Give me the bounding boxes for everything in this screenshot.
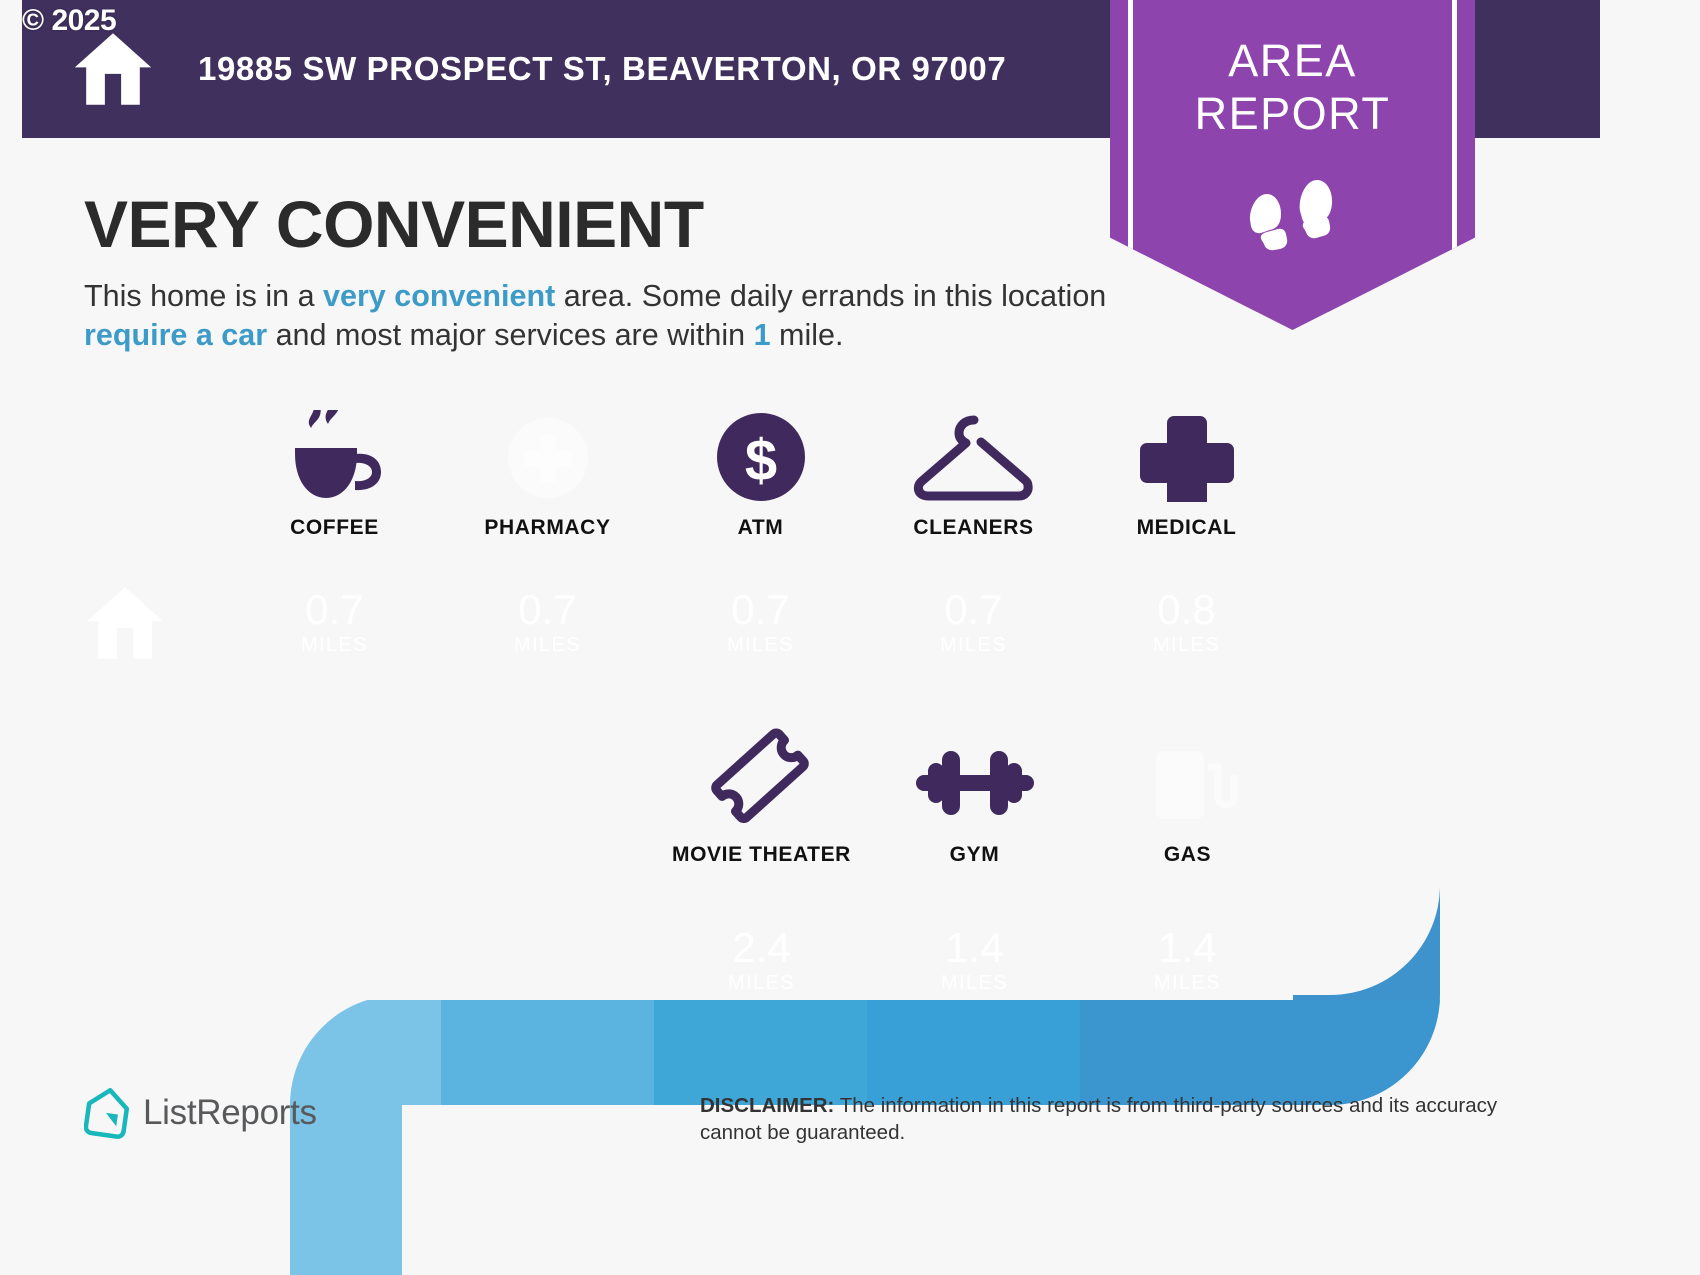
amenity-coffee: COFFEE xyxy=(228,410,441,540)
distance-value: 0.7 xyxy=(944,588,1002,632)
dumbbell-icon xyxy=(912,737,1038,829)
amenity-label: CLEANERS xyxy=(913,516,1033,540)
amenity-atm: $ ATM xyxy=(654,410,867,540)
distance-unit: MILES xyxy=(1153,634,1220,657)
distance-value: 0.7 xyxy=(731,588,789,632)
home-marker-cell xyxy=(22,565,228,680)
disclaimer: DISCLAIMER: The information in this repo… xyxy=(700,1092,1500,1146)
amenity-label: GAS xyxy=(1164,843,1211,867)
distance-cell-pharmacy: 0.7 MILES xyxy=(441,565,654,680)
distance-unit: MILES xyxy=(301,634,368,657)
logo-text: ListReports xyxy=(143,1093,317,1133)
listreports-pin-icon xyxy=(84,1087,130,1139)
distance-cell-gas: 1.4 MILES xyxy=(1081,903,1294,1018)
distance-cell-gym: 1.4 MILES xyxy=(868,903,1081,1018)
disclaimer-label: DISCLAIMER: xyxy=(700,1094,834,1117)
svg-text:$: $ xyxy=(744,428,776,493)
distance-value-row-1: 0.7 MILES 0.7 MILES 0.7 MILES 0.7 MILES … xyxy=(228,565,1293,680)
distance-value: 0.7 xyxy=(305,588,363,632)
distance-cell-medical: 0.8 MILES xyxy=(1080,565,1293,680)
footprints-icon xyxy=(1241,172,1345,258)
distance-value: 1.4 xyxy=(945,926,1003,970)
distance-unit: MILES xyxy=(1154,972,1221,995)
distance-value-row-2: 2.4 MILES 1.4 MILES 1.4 MILES xyxy=(655,903,1294,1018)
dollar-circle-icon: $ xyxy=(707,410,815,502)
distance-unit: MILES xyxy=(514,634,581,657)
badge-title: AREA REPORT xyxy=(1110,34,1475,140)
copyright-watermark: © 2025 xyxy=(22,4,116,38)
amenity-pharmacy: PHARMACY xyxy=(441,410,654,540)
amenity-label: GYM xyxy=(950,843,1000,867)
medical-cross-icon xyxy=(1133,410,1241,502)
movie-ticket-icon xyxy=(708,737,816,829)
distance-cell-cleaners: 0.7 MILES xyxy=(867,565,1080,680)
distance-cell-atm: 0.7 MILES xyxy=(654,565,867,680)
distance-unit: MILES xyxy=(941,972,1008,995)
badge-title-line1: AREA xyxy=(1110,34,1475,87)
amenity-cleaners: CLEANERS xyxy=(867,410,1080,540)
hanger-icon xyxy=(910,410,1038,502)
amenity-gas: GAS xyxy=(1081,737,1294,867)
distance-value: 2.4 xyxy=(732,926,790,970)
amenity-icon-row-1: COFFEE PHARMACY $ ATM CLEANERS xyxy=(228,410,1293,540)
coffee-cup-icon xyxy=(281,410,389,502)
amenity-gym: GYM xyxy=(868,737,1081,867)
amenity-medical: MEDICAL xyxy=(1080,410,1293,540)
amenity-label: PHARMACY xyxy=(484,516,610,540)
amenity-icon-row-2: MOVIE THEATER GYM GAS xyxy=(655,737,1294,867)
distance-value: 0.7 xyxy=(518,588,576,632)
pharmacy-icon xyxy=(494,410,602,502)
distance-cell-coffee: 0.7 MILES xyxy=(228,565,441,680)
amenity-label: MEDICAL xyxy=(1137,516,1237,540)
amenity-label: MOVIE THEATER xyxy=(672,843,851,867)
amenity-label: COFFEE xyxy=(290,516,379,540)
amenity-label: ATM xyxy=(738,516,784,540)
badge-title-line2: REPORT xyxy=(1110,87,1475,140)
gas-pump-icon xyxy=(1134,737,1242,829)
distance-value: 0.8 xyxy=(1157,588,1215,632)
distance-value: 1.4 xyxy=(1158,926,1216,970)
house-icon xyxy=(83,584,167,662)
distance-unit: MILES xyxy=(728,972,795,995)
distance-unit: MILES xyxy=(940,634,1007,657)
amenity-movie-theater: MOVIE THEATER xyxy=(655,737,868,867)
distance-cell-movie-theater: 2.4 MILES xyxy=(655,903,868,1018)
listreports-logo: ListReports xyxy=(84,1087,317,1139)
distance-unit: MILES xyxy=(727,634,794,657)
